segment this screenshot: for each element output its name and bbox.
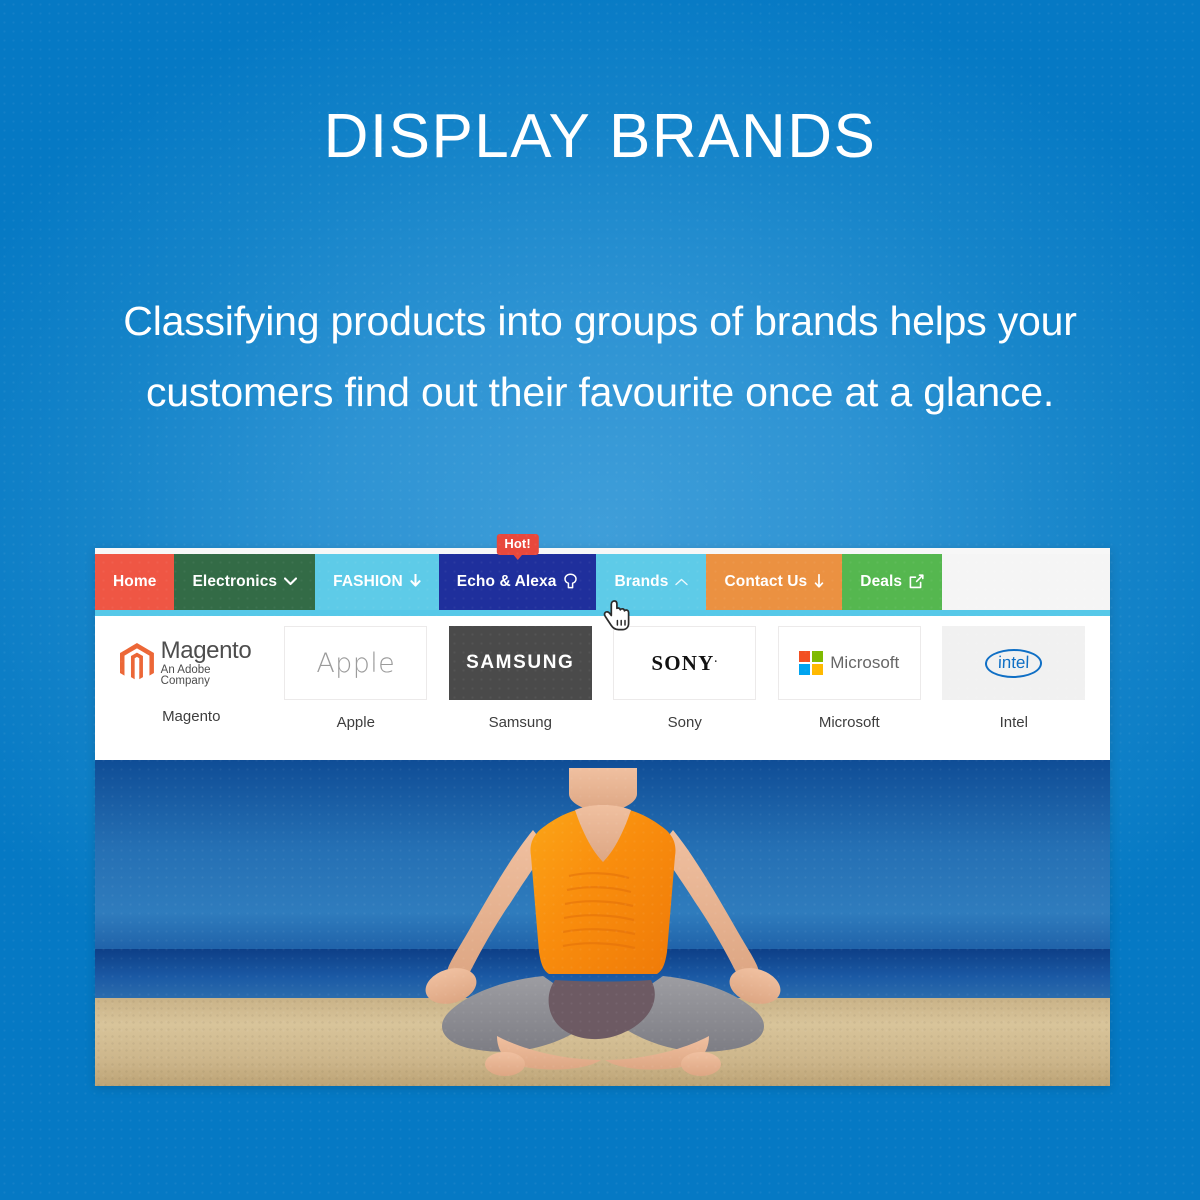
brand-item-apple[interactable]: Apple Apple xyxy=(274,626,439,731)
page-title: DISPLAY BRANDS xyxy=(0,104,1200,169)
brand-logo-tile: Microsoft xyxy=(778,626,921,700)
intel-logo-icon: intel xyxy=(985,649,1043,678)
brands-list: Magento An Adobe Company Magento Apple A… xyxy=(95,616,1110,760)
magento-tagline: An Adobe Company xyxy=(161,665,263,688)
external-link-icon xyxy=(909,574,924,591)
sony-logo-icon: SONY. xyxy=(651,651,718,676)
magento-mark-icon xyxy=(120,643,154,683)
nav-item-deals[interactable]: Deals xyxy=(842,554,942,610)
microsoft-logo-icon: Microsoft xyxy=(799,651,899,675)
site-navigation: Home Electronics FASHION Hot! Ech xyxy=(95,548,1110,616)
nav-item-home[interactable]: Home xyxy=(95,554,174,610)
microsoft-wordmark: Microsoft xyxy=(830,653,899,673)
brand-label: Apple xyxy=(337,714,375,731)
brand-logo-tile: Apple xyxy=(284,626,427,700)
apple-logo-icon: Apple xyxy=(316,648,395,679)
brand-logo-tile: SONY. xyxy=(613,626,756,700)
samsung-logo-icon: SAMSUNG xyxy=(466,652,574,674)
trademark-mark: . xyxy=(714,654,718,665)
brand-label: Magento xyxy=(162,708,220,725)
sony-wordmark: SONY xyxy=(651,651,714,675)
home-outline-icon xyxy=(563,573,578,591)
nav-item-label: FASHION xyxy=(333,573,403,591)
brand-label: Microsoft xyxy=(819,714,880,731)
status-badge: Hot! xyxy=(496,534,538,555)
arrow-down-icon xyxy=(410,574,421,590)
nav-accent-underline xyxy=(95,610,1110,616)
nav-item-contact-us[interactable]: Contact Us xyxy=(706,554,842,610)
nav-item-brands[interactable]: Brands xyxy=(596,554,706,610)
brand-item-magento[interactable]: Magento An Adobe Company Magento xyxy=(109,626,274,725)
nav-bar: Home Electronics FASHION Hot! Ech xyxy=(95,554,1110,610)
brand-item-intel[interactable]: intel Intel xyxy=(932,626,1097,731)
chevron-up-icon xyxy=(675,576,688,588)
hero-banner-image xyxy=(95,760,1110,1086)
meditating-woman-figure xyxy=(393,768,813,1084)
brand-item-microsoft[interactable]: Microsoft Microsoft xyxy=(767,626,932,731)
nav-item-label: Deals xyxy=(860,573,902,591)
nav-item-label: Home xyxy=(113,573,156,591)
chevron-down-icon xyxy=(284,576,297,588)
microsoft-squares-icon xyxy=(799,651,823,675)
arrow-down-icon xyxy=(814,574,824,591)
nav-item-electronics[interactable]: Electronics xyxy=(174,554,315,610)
brand-label: Samsung xyxy=(489,714,552,731)
magento-logo-icon: Magento An Adobe Company xyxy=(120,639,263,688)
magento-name: Magento xyxy=(161,639,263,663)
nav-item-label: Brands xyxy=(614,573,668,591)
nav-empty-space xyxy=(942,554,1110,610)
brand-logo-tile: intel xyxy=(942,626,1085,700)
nav-item-label: Contact Us xyxy=(724,573,807,591)
brand-label: Sony xyxy=(668,714,702,731)
page-subtitle: Classifying products into groups of bran… xyxy=(100,286,1100,427)
poster-canvas: DISPLAY BRANDS Classifying products into… xyxy=(0,0,1200,1200)
brand-logo-tile: SAMSUNG xyxy=(449,626,592,700)
nav-item-fashion[interactable]: FASHION xyxy=(315,554,439,610)
browser-screenshot-card: Home Electronics FASHION Hot! Ech xyxy=(95,548,1110,1086)
nav-item-echo-alexa[interactable]: Hot! Echo & Alexa xyxy=(439,554,597,610)
magento-wordmark: Magento An Adobe Company xyxy=(161,639,263,688)
brand-logo-tile: Magento An Adobe Company xyxy=(120,626,263,700)
nav-item-label: Electronics xyxy=(192,573,277,591)
nav-item-label: Echo & Alexa xyxy=(457,573,557,591)
brand-label: Intel xyxy=(1000,714,1028,731)
brand-item-sony[interactable]: SONY. Sony xyxy=(603,626,768,731)
brand-item-samsung[interactable]: SAMSUNG Samsung xyxy=(438,626,603,731)
